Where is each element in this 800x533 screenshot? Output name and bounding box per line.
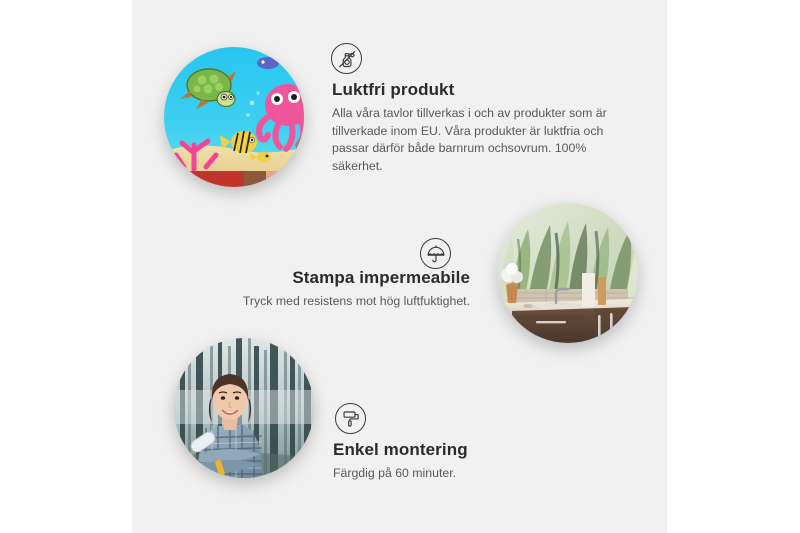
- feature-easy-mounting-text: Enkel montering Färgdig på 60 minuter.: [333, 440, 593, 483]
- feature-odourless-title: Luktfri produkt: [332, 80, 622, 100]
- feature-waterproof-text: Stampa impermeabile Tryck med resistens …: [210, 268, 470, 311]
- feature-odourless-text: Luktfri produkt Alla våra tavlor tillver…: [332, 80, 622, 175]
- paint-roller-icon: [335, 403, 366, 434]
- photo-bathroom-vanity-tropical-wallpaper: [498, 203, 638, 343]
- photo-woman-with-paint-roller-forest-mural: [174, 338, 314, 478]
- umbrella-icon: [420, 238, 451, 269]
- photo-underwater-cartoon-mural: [164, 47, 304, 187]
- feature-waterproof-body: Tryck med resistens mot hög luftfuktighe…: [210, 293, 470, 311]
- feature-easy-mounting-title: Enkel montering: [333, 440, 593, 460]
- promo-infographic: Luktfri produkt Alla våra tavlor tillver…: [0, 0, 800, 533]
- feature-odourless-body: Alla våra tavlor tillverkas i och av pro…: [332, 105, 622, 175]
- no-spray-bottle-icon: [331, 43, 362, 74]
- feature-waterproof-title: Stampa impermeabile: [210, 268, 470, 288]
- feature-easy-mounting-body: Färgdig på 60 minuter.: [333, 465, 593, 483]
